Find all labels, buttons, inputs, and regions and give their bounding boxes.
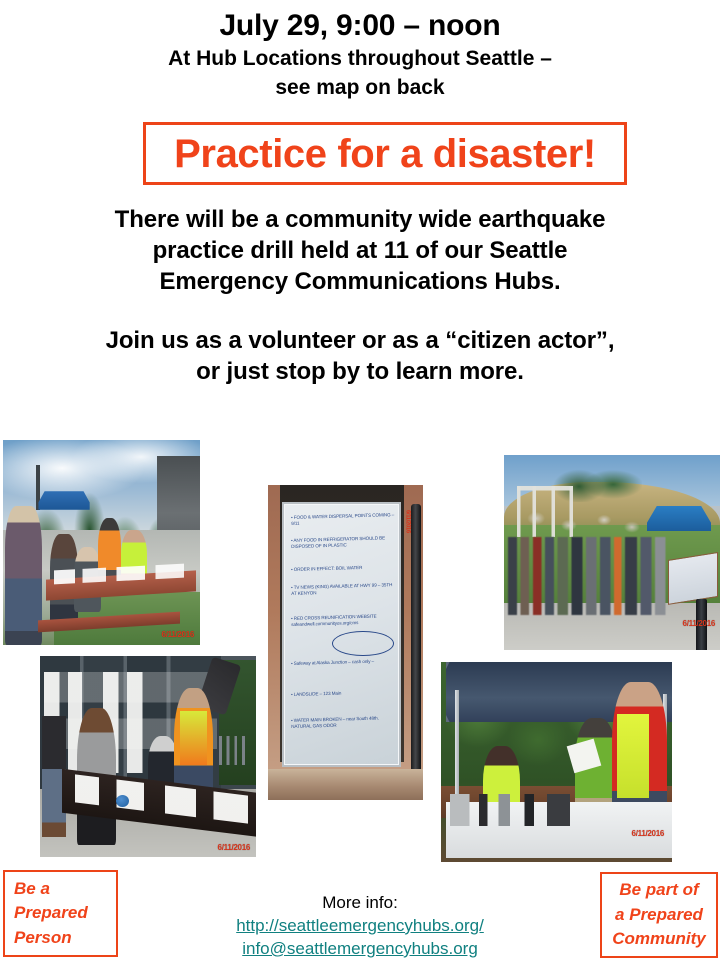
headline-box: Practice for a disaster! [143,122,627,185]
body-paragraph-2: Join us as a volunteer or as a “citizen … [96,326,624,388]
photo-signin: 6/11/2016 [3,440,200,645]
ground-base [268,769,423,801]
tagline-left-line-3: Person [14,926,116,951]
event-date-time: July 29, 9:00 – noon [0,0,720,43]
whiteboard-note: • FOOD & WATER DISPERSAL POINTS COMING –… [291,512,396,528]
photo-table-scene [40,656,256,857]
photo-datestamp: 6/11/2016 [405,510,411,533]
photo-datestamp: 6/11/2016 [632,829,664,838]
blue-canopy [647,506,712,531]
flyer-header: July 29, 9:00 – noon At Hub Locations th… [0,0,720,101]
tagline-left-line-2: Prepared [14,901,116,926]
radio-equipment [450,794,612,826]
photo-whiteboard: • FOOD & WATER DISPERSAL POINTS COMING –… [268,485,423,800]
photo-radio: 6/11/2016 [441,662,672,862]
whiteboard: • FOOD & WATER DISPERSAL POINTS COMING –… [282,502,401,767]
whiteboard-note: • ORDER IN EFFECT: BOIL WATER [291,564,396,573]
email-link[interactable]: info@seattlemergencyhubs.org [180,938,540,961]
body-copy: There will be a community wide earthquak… [96,205,624,388]
more-info-block: More info: http://seattleemergencyhubs.o… [180,892,540,961]
photo-datestamp: 6/11/2016 [162,630,194,639]
photo-signin-scene [3,440,200,645]
tagline-box-left: Be a Prepared Person [3,870,118,957]
headline-text: Practice for a disaster! [174,134,596,174]
whiteboard-circle-annotation [332,631,394,656]
event-location-line-1: At Hub Locations throughout Seattle – [0,43,720,72]
handrail [219,736,254,764]
crowd-of-people [508,537,685,615]
tagline-right-line-2: a Prepared [602,903,716,928]
photo-whiteboard-scene: • FOOD & WATER DISPERSAL POINTS COMING –… [268,485,423,800]
photo-crowd: 6/11/2016 [504,455,720,650]
tagline-box-right: Be part of a Prepared Community [600,872,718,958]
body-paragraph-1: There will be a community wide earthquak… [96,205,624,298]
pergola-structure [517,486,573,537]
whiteboard-note: • RED CROSS REUNIFICATION WEBSITE safean… [291,613,396,629]
person-figure [5,506,42,645]
whiteboard-note: • WATER MAIN BROKEN – near South 48th. N… [291,715,396,731]
photo-datestamp: 6/11/2016 [218,843,250,852]
more-info-label: More info: [180,892,540,915]
blue-tape-roll [116,795,129,807]
event-location-line-2: see map on back [0,72,720,101]
display-easel [668,552,718,605]
tagline-right-line-1: Be part of [602,878,716,903]
whiteboard-note: • LANDSLIDE – 123 Main [291,689,396,698]
photo-table: 6/11/2016 [40,656,256,857]
paragraph-spacer [96,298,624,326]
photo-datestamp: 6/11/2016 [683,619,715,628]
blue-canopy [38,491,89,509]
metal-post [411,504,422,788]
tagline-left-line-1: Be a [14,877,116,902]
whiteboard-note: • TV NEWS (KING) AVAILABLE AT HWY 99 – 3… [291,582,396,598]
whiteboard-note: • Safeway at Alaska Junction – cash only… [291,658,396,667]
whiteboard-note: • ANY FOOD IN REFRIGERATOR SHOULD BE DIS… [291,535,396,551]
website-link[interactable]: http://seattleemergencyhubs.org/ [180,915,540,938]
tagline-right-line-3: Community [602,927,716,952]
